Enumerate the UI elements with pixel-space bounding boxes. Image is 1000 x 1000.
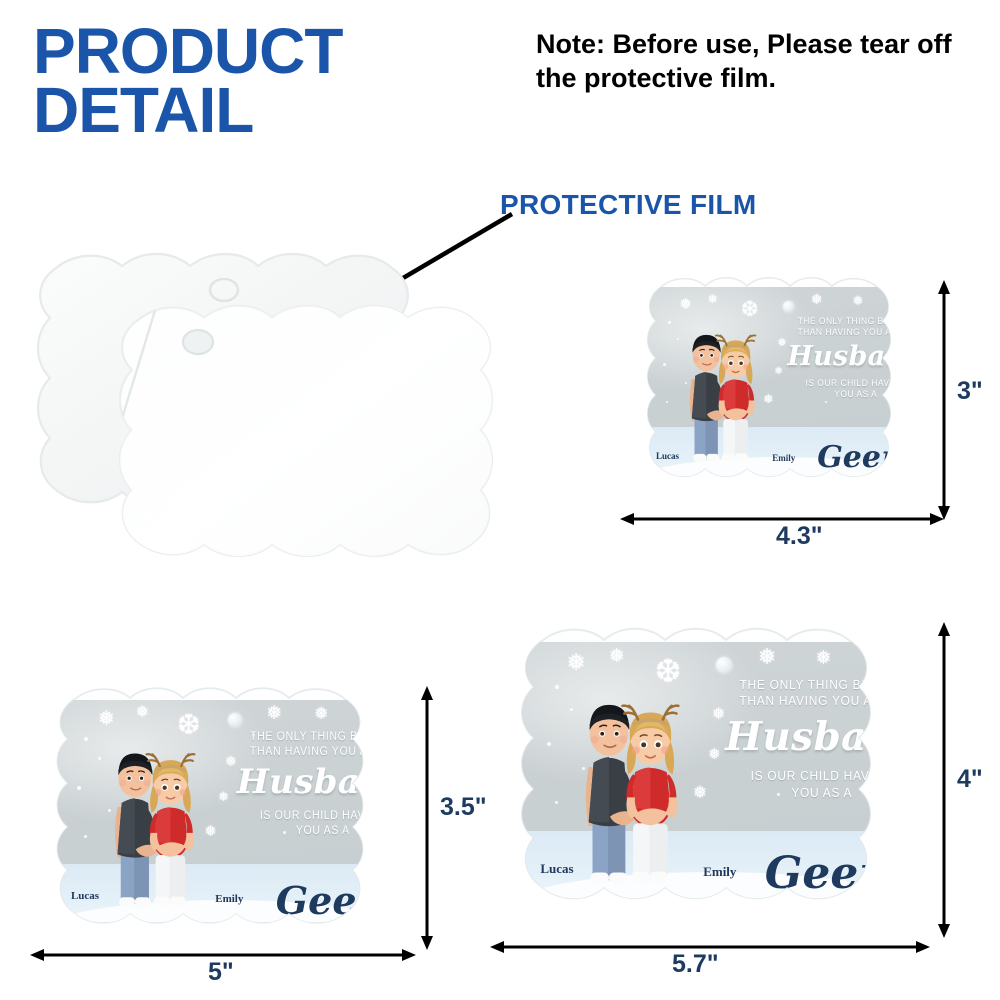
- bauble-icon: [783, 301, 794, 312]
- snowflake-icon: ❅: [609, 647, 625, 666]
- ornament-preview-small[interactable]: ❅ ❅ ❆ ❅ ❅ ❅ ❅ ❅ ❅ THE ON: [625, 275, 935, 500]
- snowflake-icon: ❅: [853, 295, 864, 308]
- couple-illustration-small: [672, 313, 777, 484]
- height-label-large: 4": [957, 765, 983, 794]
- snowflake-icon: ❅: [758, 647, 776, 669]
- snow-dot: [663, 363, 666, 366]
- width-label-small: 4.3": [776, 522, 823, 551]
- ornament-preview-medium[interactable]: ❅ ❅ ❆ ❅ ❅ ❅ ❅ ❅ ❅ THE ONLY THIN: [30, 685, 420, 950]
- snowflake-icon: ❅: [266, 704, 282, 723]
- acrylic-blanks-group: [18, 228, 538, 628]
- snowflake-icon: ❅: [225, 755, 237, 769]
- snowflake-icon: ❅: [712, 706, 725, 722]
- couple-illustration-medium: [89, 727, 226, 934]
- width-label-large: 5.7": [672, 950, 719, 979]
- couple-illustration-large: [558, 674, 712, 915]
- snowflake-icon: ❅: [707, 293, 717, 305]
- height-dimension-small: [937, 280, 951, 520]
- snowflake-icon: ❅: [314, 706, 328, 723]
- height-label-small: 3": [957, 377, 983, 406]
- snowflake-icon: ❅: [136, 704, 149, 720]
- snowflake-icon: ❅: [680, 297, 693, 312]
- width-label-medium: 5": [208, 958, 234, 987]
- page-title: PRODUCT DETAIL: [33, 22, 342, 140]
- snowflake-icon: ❅: [811, 293, 823, 307]
- page-title-line-1: PRODUCT: [33, 22, 342, 81]
- snowflake-icon: ❅: [98, 708, 115, 728]
- height-dimension-large: [937, 622, 951, 938]
- snowflake-icon: ❅: [815, 649, 831, 668]
- height-dimension-medium: [420, 686, 434, 950]
- usage-note: Note: Before use, Please tear off the pr…: [536, 28, 966, 96]
- page-title-line-2: DETAIL: [33, 81, 342, 140]
- snowflake-icon: ❅: [567, 652, 586, 675]
- snowflake-icon: ❅: [777, 337, 786, 348]
- protective-film-label: PROTECTIVE FILM: [500, 189, 757, 221]
- snow-dot: [666, 401, 668, 403]
- ornament-preview-large[interactable]: ❅ ❅ ❆ ❅ ❅ ❅ ❅ ❅ ❅ THE ONLY THIN: [492, 625, 932, 930]
- height-label-medium: 3.5": [440, 793, 487, 822]
- bauble-icon: [716, 657, 732, 673]
